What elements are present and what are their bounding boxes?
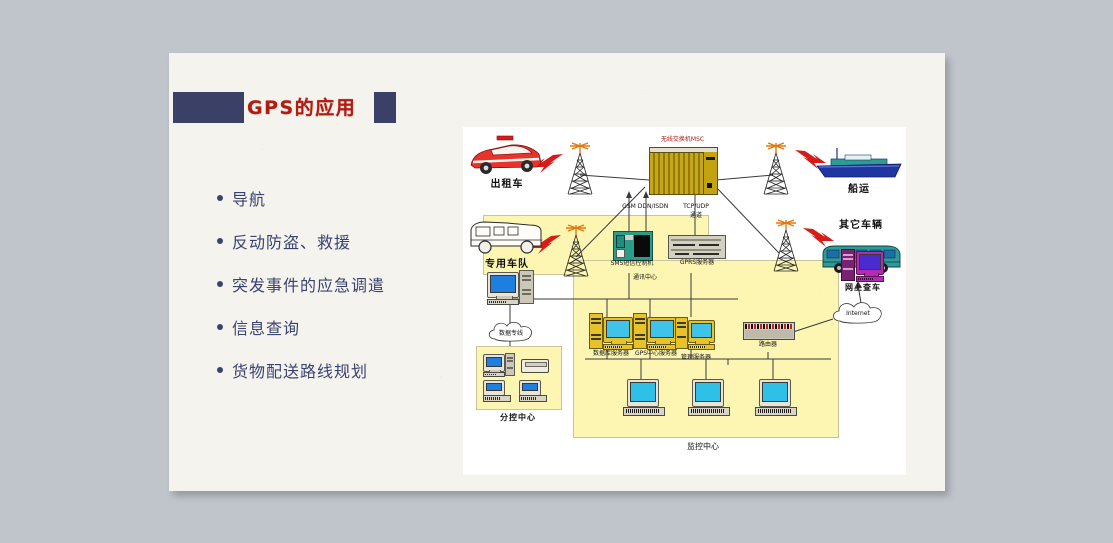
sms-controller-label: SMS短信控制机: [605, 261, 659, 268]
router-device: [743, 322, 795, 340]
taxi-label: 出租车: [469, 179, 545, 191]
bullet-label: 突发事件的应急调遣: [232, 272, 385, 296]
bullet-dot-icon: [217, 367, 223, 373]
list-item: 反动防盗、救援: [217, 229, 467, 253]
internet-label: Internet: [829, 310, 887, 317]
gprs-server-device: [668, 235, 726, 259]
bullet-dot-icon: [217, 324, 223, 330]
bullet-label: 信息查询: [232, 315, 300, 339]
router-label: 路由器: [743, 342, 793, 349]
printer-icon: [521, 359, 549, 373]
title-bar-right-accent: [374, 92, 396, 123]
taxi-icon: [467, 135, 545, 177]
title-bar-left-accent: [173, 92, 244, 123]
web-query-label: 网上查车: [831, 283, 895, 292]
bullet-dot-icon: [217, 238, 223, 244]
antenna-tower-icon: [759, 140, 793, 196]
antenna-tower-icon: [559, 222, 593, 278]
monitor-center-label: 监控中心: [658, 442, 748, 451]
ship-icon: [815, 145, 903, 185]
van-icon: [467, 218, 545, 258]
bullet-label: 货物配送路线规划: [232, 358, 368, 382]
fleet-label: 专用车队: [469, 259, 545, 271]
msc-switch-device: [649, 147, 718, 195]
channel-label-tcp: TCP/UDP: [676, 204, 716, 211]
bullet-label: 反动防盗、救援: [232, 229, 351, 253]
data-line-label: 数据专线: [485, 328, 537, 337]
list-item: 突发事件的应急调遣: [217, 272, 467, 296]
sms-controller-device: [613, 231, 653, 261]
other-vehicles-label: 其它车辆: [815, 220, 907, 232]
presentation-slide: GPS的应用 导航 反动防盗、救援 突发事件的应急调遣 信息查询 货物配送路线规…: [169, 53, 945, 491]
gprs-server-label: GPRS服务器: [669, 260, 725, 267]
data-line-cloud: 数据专线: [485, 319, 537, 345]
sub-center-label: 分控中心: [476, 413, 560, 422]
slide-title-block: GPS的应用: [173, 92, 391, 123]
antenna-tower-icon: [769, 217, 803, 273]
bullet-label: 导航: [232, 186, 266, 210]
ship-label: 船运: [815, 184, 903, 196]
network-topology-diagram: 无线交换机MSC GSM DDN/ISDN TCP/UDP 通道: [463, 127, 906, 475]
list-item: 信息查询: [217, 315, 467, 339]
bullet-dot-icon: [217, 281, 223, 287]
comm-center-label: 通讯中心: [617, 275, 673, 282]
list-item: 导航: [217, 186, 467, 210]
antenna-tower-icon: [563, 140, 597, 196]
msc-right-panel: [703, 152, 717, 194]
msc-label: 无线交换机MSC: [649, 137, 716, 144]
channel-label-ddn: DDN/ISDN: [631, 204, 675, 211]
list-item: 货物配送路线规划: [217, 358, 467, 382]
page-title: GPS的应用: [247, 93, 356, 120]
internet-cloud: Internet: [829, 299, 887, 327]
mgmt-server-label: 管理服务器: [668, 355, 724, 362]
bullet-list: 导航 反动防盗、救援 突发事件的应急调遣 信息查询 货物配送路线规划: [217, 186, 467, 401]
channel-label-tcp-channel: 通道: [676, 213, 716, 220]
bullet-dot-icon: [217, 195, 223, 201]
